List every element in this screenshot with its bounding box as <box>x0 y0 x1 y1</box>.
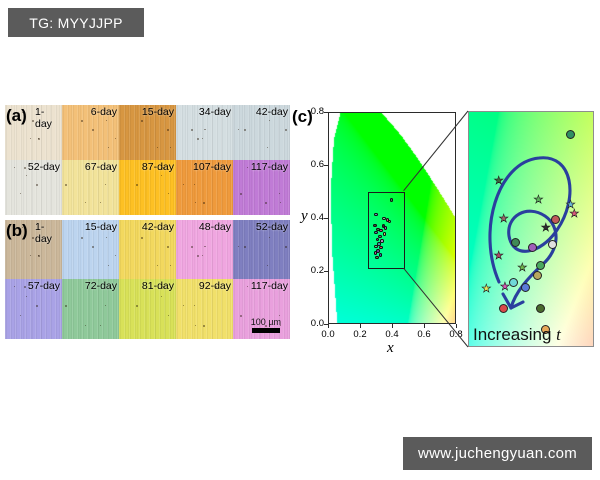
micrograph-texture <box>233 105 290 160</box>
panel-b-tag: (b) <box>6 221 28 241</box>
micrograph-speck <box>157 147 158 148</box>
micrograph-texture <box>233 160 290 215</box>
micrograph-texture <box>119 160 176 215</box>
micrograph-speck <box>85 202 86 203</box>
micrograph-tile: 72-day <box>62 279 119 339</box>
micrograph-speck <box>157 265 158 266</box>
micrograph-speck <box>167 246 169 248</box>
micrograph-speck <box>161 296 162 297</box>
micrograph-speck <box>240 315 242 317</box>
cie-y-tickmark <box>324 324 328 325</box>
micrograph-speck <box>100 325 101 326</box>
micrograph-speck <box>280 202 281 203</box>
inset-annotation-variable: t <box>556 325 561 344</box>
inset-annotation-text: Increasing <box>473 325 556 344</box>
micrograph-speck <box>26 296 27 297</box>
scale-bar: 100 µm <box>251 317 281 333</box>
inset-star-marker: ★ <box>569 210 579 219</box>
inset-circle-marker <box>521 283 530 292</box>
micrograph-texture <box>176 160 233 215</box>
cie-x-tickmark <box>360 324 361 328</box>
micrograph-speck <box>265 202 267 204</box>
micrograph-texture <box>233 220 290 279</box>
cie-x-tickmark <box>392 324 393 328</box>
micrograph-tile: 117-day <box>233 160 290 215</box>
micrograph-speck <box>85 325 86 326</box>
micrograph-texture <box>5 279 62 339</box>
inset-circle-marker <box>499 304 508 313</box>
inset-star-marker: ★ <box>481 285 491 294</box>
inset-circle-marker <box>536 304 545 313</box>
inset-star-marker: ★ <box>494 177 504 186</box>
inset-star-marker: ★ <box>494 252 504 261</box>
cie-x-axis-title: x <box>387 340 394 357</box>
cie-y-axis-title: y <box>301 208 308 225</box>
inset-star-marker: ★ <box>517 264 527 273</box>
micrograph-tile: 6-day <box>62 105 119 160</box>
screenshot-root: 1-day6-day15-day34-day42-day52-day67-day… <box>0 0 600 480</box>
cie-roi-box <box>368 192 405 269</box>
micrograph-speck <box>149 227 150 228</box>
cie-y-tick-label: 0.6 <box>302 159 324 170</box>
inset-star-marker: ★ <box>500 283 510 292</box>
micrograph-texture <box>62 279 119 339</box>
panel-a-micrographs: 1-day6-day15-day34-day42-day52-day67-day… <box>5 105 290 215</box>
micrograph-speck <box>92 246 94 248</box>
cie-data-point <box>379 253 383 257</box>
micrograph-tile: 15-day <box>62 220 119 279</box>
scale-bar-rule <box>252 328 280 333</box>
micrograph-speck <box>109 167 111 169</box>
tg-badge: TG: MYYJJPP <box>8 8 144 37</box>
micrograph-tile: 67-day <box>62 160 119 215</box>
figure-container: 1-day6-day15-day34-day42-day52-day67-day… <box>0 105 600 355</box>
cie-data-point <box>379 246 383 250</box>
micrograph-tile: 15-day <box>119 105 176 160</box>
scale-bar-label: 100 µm <box>251 317 281 327</box>
panel-b-micrographs: 1-day15-day42-day48-day52-day57-day72-da… <box>5 220 290 339</box>
micrograph-tile: 107-day <box>176 160 233 215</box>
inset-star-marker: ★ <box>533 196 543 205</box>
micrograph-tile: 42-day <box>233 105 290 160</box>
micrograph-tile: 52-day <box>5 160 62 215</box>
micrograph-speck <box>92 129 94 131</box>
micrograph-speck <box>215 167 217 169</box>
inset-star-marker: ★ <box>541 224 551 233</box>
micrograph-speck <box>168 193 169 194</box>
micrograph-speck <box>205 246 206 247</box>
micrograph-speck <box>36 184 38 186</box>
cie-y-tickmark <box>324 165 328 166</box>
micrograph-speck <box>240 193 242 195</box>
micrograph-texture <box>119 105 176 160</box>
inset-star-marker: ★ <box>499 215 509 224</box>
cie-data-point <box>380 239 384 243</box>
micrograph-speck <box>141 237 143 239</box>
micrograph-speck <box>149 112 150 113</box>
micrograph-texture <box>5 160 62 215</box>
micrograph-texture <box>176 279 233 339</box>
cie-x-tick-label: 0.4 <box>383 329 401 340</box>
micrograph-speck <box>108 265 109 266</box>
cie-plot-area <box>328 112 456 324</box>
micrograph-speck <box>100 202 101 203</box>
cie-inset-zoom: ★★★★★★★★★★ Increasing t <box>468 111 594 347</box>
cie-data-point <box>374 245 378 249</box>
micrograph-speck <box>109 286 111 288</box>
cie-y-tick-label: 0.2 <box>302 265 324 276</box>
micrograph-texture <box>119 220 176 279</box>
micrograph-tile: 48-day <box>176 220 233 279</box>
micrograph-tile: 34-day <box>176 105 233 160</box>
micrograph-tile: 81-day <box>119 279 176 339</box>
cie-data-point <box>373 224 377 228</box>
micrograph-texture <box>62 220 119 279</box>
micrograph-tile: 92-day <box>176 279 233 339</box>
cie-y-tickmark <box>324 271 328 272</box>
increasing-time-spiral-arrow <box>469 112 594 347</box>
micrograph-speck <box>197 138 199 140</box>
micrograph-speck <box>108 147 109 148</box>
inset-circle-marker <box>551 215 560 224</box>
cie-y-tick-label: 0.0 <box>302 318 324 329</box>
micrograph-texture <box>62 105 119 160</box>
cie-chromaticity-chart: 0.00.20.40.60.80.00.20.40.60.8 x y <box>300 105 475 355</box>
micrograph-tile: 57-day <box>5 279 62 339</box>
micrograph-texture <box>119 279 176 339</box>
micrograph-tile: 52-day <box>233 220 290 279</box>
micrograph-speck <box>115 138 116 139</box>
cie-x-tickmark <box>424 324 425 328</box>
inset-annotation: Increasing t <box>473 325 561 345</box>
cie-x-tick-label: 0.6 <box>415 329 433 340</box>
panel-a-tag: (a) <box>6 106 27 126</box>
micrograph-speck <box>14 167 15 168</box>
micrograph-tile: 87-day <box>119 160 176 215</box>
cie-x-tickmark <box>328 324 329 328</box>
cie-x-tick-label: 0.2 <box>351 329 369 340</box>
cie-y-tickmark <box>324 218 328 219</box>
panel-c-tag: (c) <box>292 107 313 127</box>
cie-x-tickmark <box>456 324 457 328</box>
micrograph-speck <box>247 167 248 168</box>
cie-y-tickmark <box>324 112 328 113</box>
cie-x-tick-label: 0.0 <box>319 329 337 340</box>
cie-data-point <box>383 232 387 236</box>
micrograph-speck <box>215 286 217 288</box>
micrograph-texture <box>176 105 233 160</box>
micrograph-texture <box>176 220 233 279</box>
micrograph-speck <box>238 246 239 247</box>
micrograph-speck <box>168 315 169 316</box>
micrograph-tile: 42-day <box>119 220 176 279</box>
cie-data-point <box>375 256 379 260</box>
watermark-badge: www.juchengyuan.com <box>403 437 592 470</box>
micrograph-speck <box>191 246 193 248</box>
cie-x-tick-label: 0.8 <box>447 329 465 340</box>
